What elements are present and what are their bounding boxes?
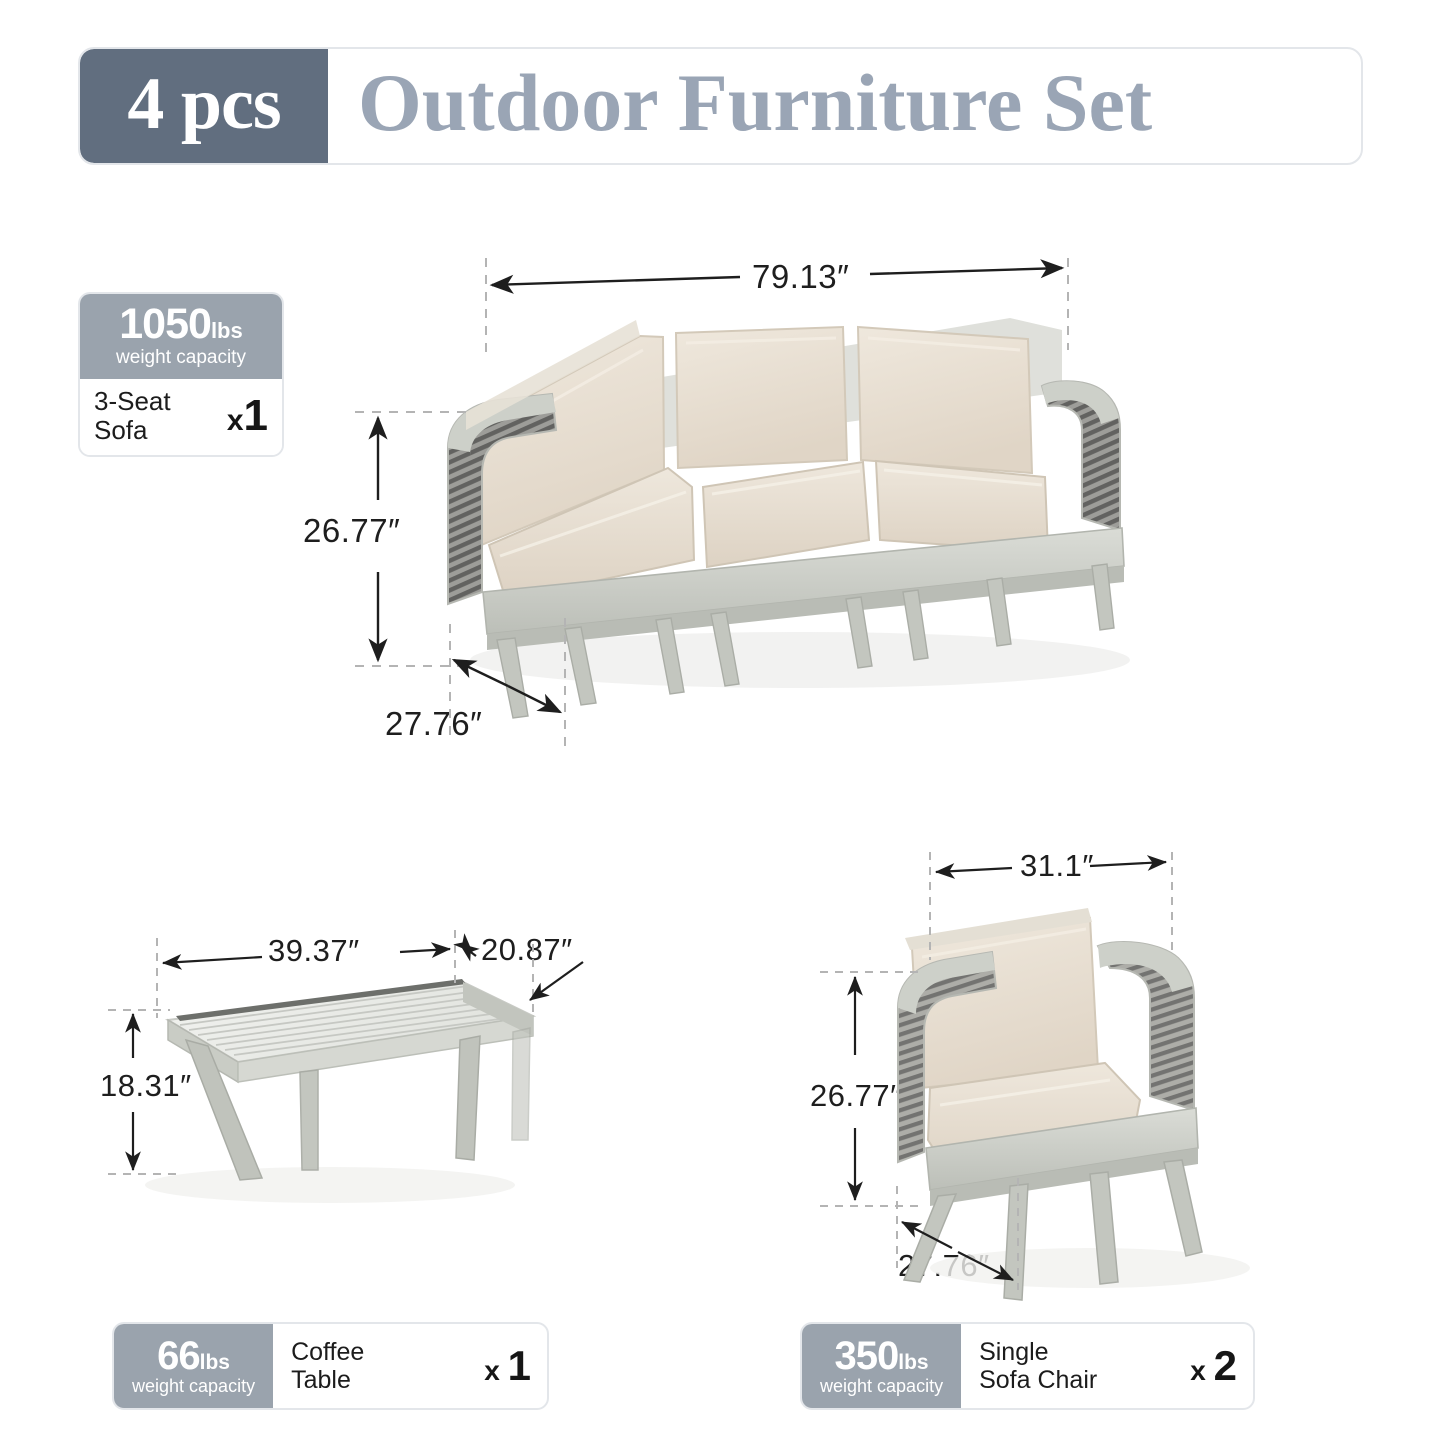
sofa-frame	[483, 528, 1124, 650]
item-info-sofa-chair: Single Sofa Chair x 2	[961, 1324, 1253, 1408]
sofa-left-arm	[448, 394, 556, 604]
sofa-seat-cushions	[489, 461, 1048, 600]
item-name-sofa-chair-line1: Single	[979, 1338, 1097, 1366]
dimension-sofa-depth: 27.76″	[385, 705, 482, 743]
capacity-label-sofa: weight capacity	[80, 348, 282, 369]
item-info-coffee-table: Coffee Table x 1	[273, 1324, 547, 1408]
item-info-sofa: 3-Seat Sofa x1	[80, 379, 282, 455]
piece-count-badge: 4 pcs	[80, 49, 328, 163]
dimension-table-depth: 20.87″	[481, 932, 573, 968]
qty-value-sofa: 1	[244, 391, 268, 440]
dimension-table-height: 18.31″	[100, 1068, 192, 1104]
item-name-sofa-chair-line2: Sofa Chair	[979, 1366, 1097, 1394]
dimension-chair-height: 26.77″	[810, 1078, 902, 1114]
sofa-illustration	[448, 318, 1130, 718]
page-title-label: Outdoor Furniture Set	[358, 62, 1152, 150]
qty-prefix-coffee-table: x	[484, 1355, 500, 1386]
spec-sheet-page: 4 pcs Outdoor Furniture Set 1050lbs weig…	[0, 0, 1445, 1445]
spec-badge-coffee-table: 66lbs weight capacity Coffee Table x 1	[112, 1322, 549, 1410]
sofa-legs	[497, 564, 1114, 718]
spec-badge-sofa-chair: 350lbs weight capacity Single Sofa Chair…	[800, 1322, 1255, 1410]
item-name-sofa: 3-Seat Sofa	[94, 387, 171, 445]
item-name-sofa-line2: Sofa	[94, 416, 171, 445]
item-name-sofa-chair: Single Sofa Chair	[979, 1338, 1097, 1394]
table-slats	[180, 986, 522, 1055]
piece-count-label: 4 pcs	[127, 67, 280, 145]
capacity-value-sofa-chair: 350	[834, 1334, 898, 1378]
sofa-chair-illustration	[898, 908, 1250, 1300]
qty-value-coffee-table: 1	[508, 1342, 531, 1389]
capacity-unit-coffee-table: lbs	[200, 1351, 230, 1374]
coffee-table-illustration	[145, 979, 533, 1203]
dimension-sofa-width: 79.13″	[752, 258, 849, 296]
dimension-chair-depth: 27.76″	[898, 1248, 990, 1284]
capacity-block-sofa-chair: 350lbs weight capacity	[802, 1324, 961, 1408]
capacity-block-sofa: 1050lbs weight capacity	[80, 294, 282, 379]
capacity-block-coffee-table: 66lbs weight capacity	[114, 1324, 273, 1408]
table-legs	[186, 1028, 530, 1180]
qty-value-sofa-chair: 2	[1214, 1342, 1237, 1389]
capacity-value-sofa: 1050	[119, 300, 211, 348]
item-name-coffee-table-line2: Table	[291, 1366, 364, 1394]
chair-right-arm	[1098, 942, 1194, 1110]
dimension-chair-width: 31.1″	[1020, 848, 1094, 884]
qty-prefix-sofa: x	[227, 404, 244, 437]
item-name-coffee-table-line1: Coffee	[291, 1338, 364, 1366]
item-qty-sofa-chair: x 2	[1190, 1342, 1237, 1390]
page-header: 4 pcs Outdoor Furniture Set	[78, 47, 1363, 165]
capacity-label-coffee-table: weight capacity	[132, 1377, 255, 1397]
chair-left-arm	[898, 952, 996, 1162]
capacity-unit-sofa-chair: lbs	[898, 1351, 928, 1374]
page-title: Outdoor Furniture Set	[328, 49, 1361, 163]
item-qty-sofa: x1	[227, 391, 268, 441]
spec-badge-sofa: 1050lbs weight capacity 3-Seat Sofa x1	[78, 292, 284, 457]
dimension-table-width: 39.37″	[268, 933, 360, 969]
item-qty-coffee-table: x 1	[484, 1342, 531, 1390]
item-name-coffee-table: Coffee Table	[291, 1338, 364, 1394]
capacity-unit-sofa: lbs	[211, 318, 243, 343]
capacity-label-sofa-chair: weight capacity	[820, 1377, 943, 1397]
capacity-value-coffee-table: 66	[157, 1334, 200, 1378]
dimension-sofa-height: 26.77″	[303, 512, 400, 550]
item-name-sofa-line1: 3-Seat	[94, 387, 171, 416]
sofa-right-arm	[1042, 381, 1120, 530]
sofa-back-cushions	[466, 327, 1032, 546]
illustration-layer	[0, 0, 1445, 1445]
qty-prefix-sofa-chair: x	[1190, 1355, 1206, 1386]
